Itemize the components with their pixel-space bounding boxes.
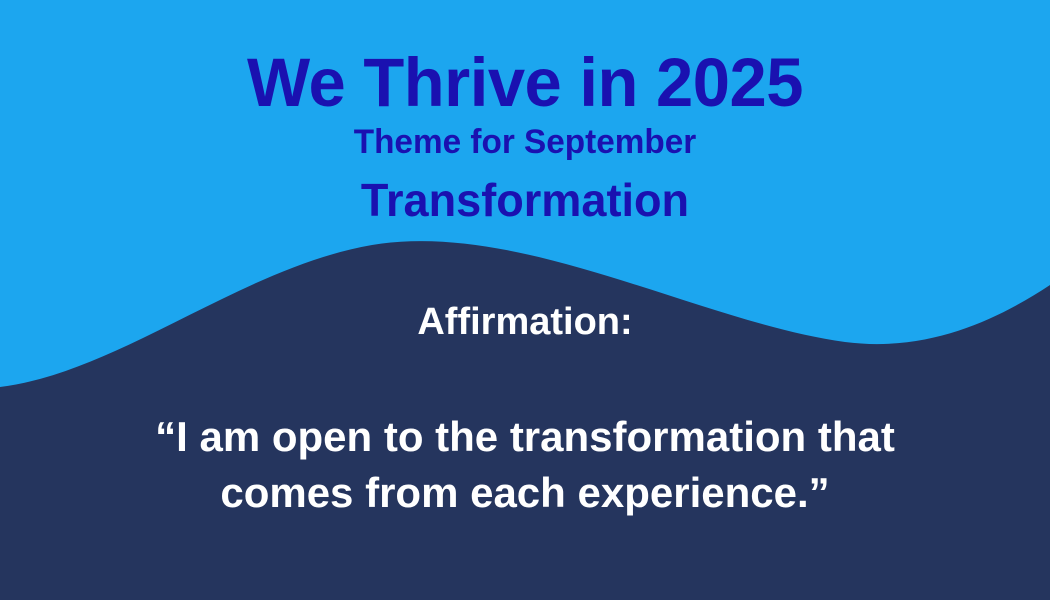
theme-label: Theme for September (11, 125, 1040, 159)
theme-name: Transformation (11, 177, 1040, 223)
affirmation-quote-text: “I am open to the transformation that co… (95, 409, 955, 521)
affirmation-poster: We Thrive in 2025 Theme for September Tr… (0, 0, 1050, 600)
affirmation-heading: Affirmation: (0, 303, 1050, 341)
page-title: We Thrive in 2025 (16, 48, 1035, 117)
